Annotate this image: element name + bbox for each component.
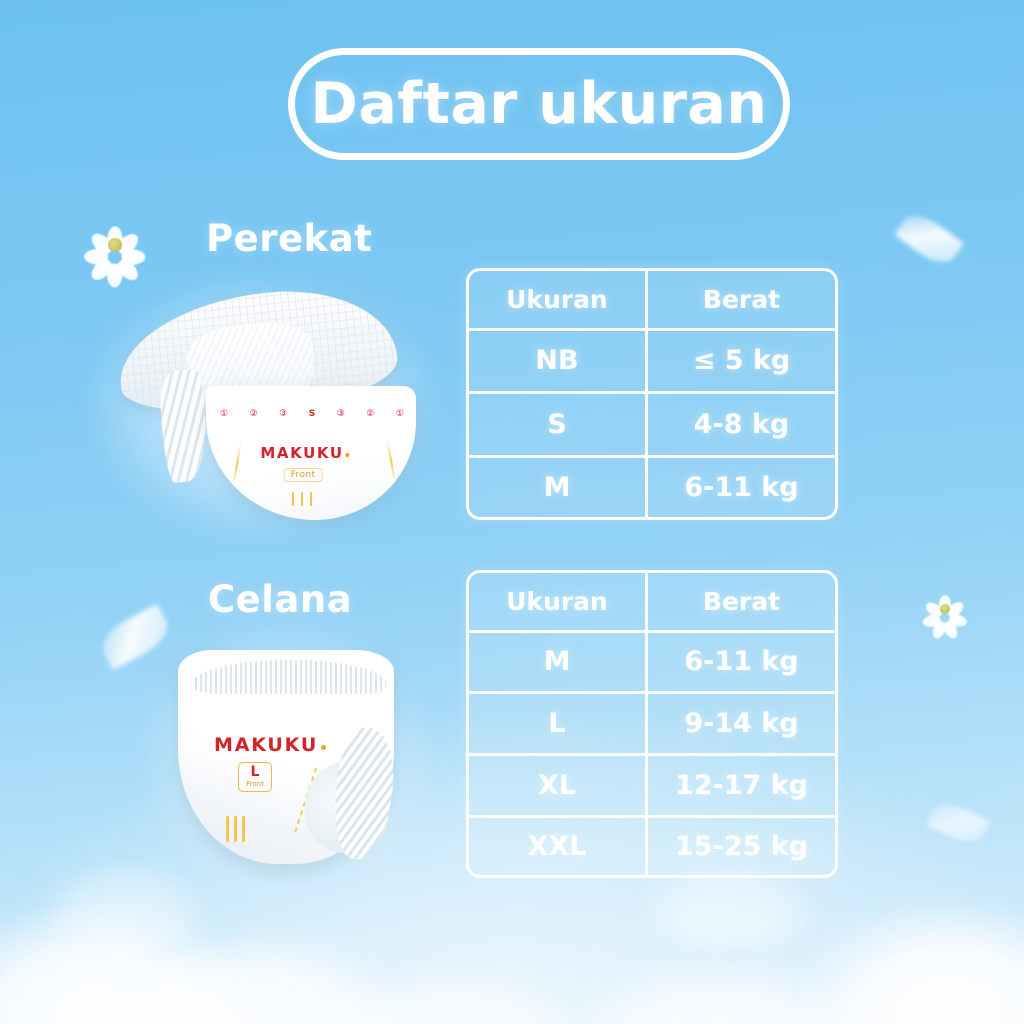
diaper-channel-numbers: ① ② ③ S ③ ② ①: [220, 410, 404, 419]
pants-body: MAKUKU L Front: [178, 650, 394, 864]
size-chart-page: Daftar ukuran Perekat ① ② ③ S ③ ② ① MAKU…: [0, 0, 1024, 1024]
channel-number: ③: [337, 410, 345, 419]
cloud: [0, 900, 260, 1024]
daisy-flower: [92, 222, 138, 268]
cell-weight: ≤ 5 kg: [647, 329, 836, 393]
front-label: Front: [284, 468, 323, 482]
cell-size: NB: [469, 329, 647, 393]
section-label-perekat: Perekat: [206, 217, 372, 260]
product-image-pants-diaper: MAKUKU L Front: [168, 636, 404, 876]
table-row: XXL 15-25 kg: [469, 816, 835, 875]
cell-weight: 15-25 kg: [647, 816, 836, 875]
table-row: S 4-8 kg: [469, 393, 835, 457]
daisy-flower: [928, 592, 962, 626]
cell-size: S: [469, 393, 647, 457]
product-image-tape-diaper: ① ② ③ S ③ ② ① MAKUKU Front: [110, 286, 416, 524]
cloud: [790, 900, 1024, 1024]
cloud: [120, 930, 410, 1024]
cell-weight: 12-17 kg: [647, 754, 836, 816]
table-header-row: Ukuran Berat: [469, 271, 835, 329]
cloud: [300, 965, 600, 1024]
table-header-row: Ukuran Berat: [469, 573, 835, 631]
brand-name: MAKUKU: [214, 734, 318, 756]
brand-dot-icon: [346, 453, 350, 457]
table-row: L 9-14 kg: [469, 693, 835, 755]
page-title-pill: Daftar ukuran: [288, 48, 790, 160]
pants-waistband: [192, 660, 386, 694]
column-header-ukuran: Ukuran: [469, 271, 647, 329]
channel-number: ①: [220, 410, 228, 419]
cell-weight: 4-8 kg: [647, 393, 836, 457]
cell-size: M: [469, 631, 647, 693]
pants-size-badge: L Front: [238, 762, 272, 792]
channel-number: ①: [396, 410, 404, 419]
cell-size: XL: [469, 754, 647, 816]
falling-petal: [894, 207, 964, 271]
table-row: M 6-11 kg: [469, 631, 835, 693]
table-row: XL 12-17 kg: [469, 754, 835, 816]
cell-size: XXL: [469, 816, 647, 875]
cell-weight: 6-11 kg: [647, 456, 836, 517]
column-header-ukuran: Ukuran: [469, 573, 647, 631]
size-table-celana: Ukuran Berat M 6-11 kg L 9-14 kg XL 12-1…: [466, 570, 838, 878]
column-header-berat: Berat: [647, 573, 836, 631]
cell-size: L: [469, 693, 647, 755]
column-header-berat: Berat: [647, 271, 836, 329]
channel-number: ②: [250, 410, 258, 419]
brand-logo: MAKUKU: [214, 734, 326, 756]
cell-size: M: [469, 456, 647, 517]
front-label: Front: [239, 781, 271, 788]
diaper-size-marking: S: [309, 410, 315, 419]
channel-number: ③: [279, 410, 287, 419]
brand-logo: MAKUKU: [260, 444, 349, 462]
pants-size-marking: L: [239, 765, 271, 779]
page-title: Daftar ukuran: [311, 76, 768, 133]
table-row: NB ≤ 5 kg: [469, 329, 835, 393]
falling-petal: [95, 604, 175, 670]
size-table-perekat: Ukuran Berat NB ≤ 5 kg S 4-8 kg M 6-11 k…: [466, 268, 838, 520]
channel-number: ②: [366, 410, 374, 419]
cell-weight: 6-11 kg: [647, 631, 836, 693]
cloud: [560, 955, 880, 1024]
section-label-celana: Celana: [208, 578, 352, 621]
brand-dot-icon: [321, 745, 326, 750]
brand-name: MAKUKU: [260, 444, 343, 462]
table-row: M 6-11 kg: [469, 456, 835, 517]
falling-petal: [926, 798, 989, 848]
cell-weight: 9-14 kg: [647, 693, 836, 755]
